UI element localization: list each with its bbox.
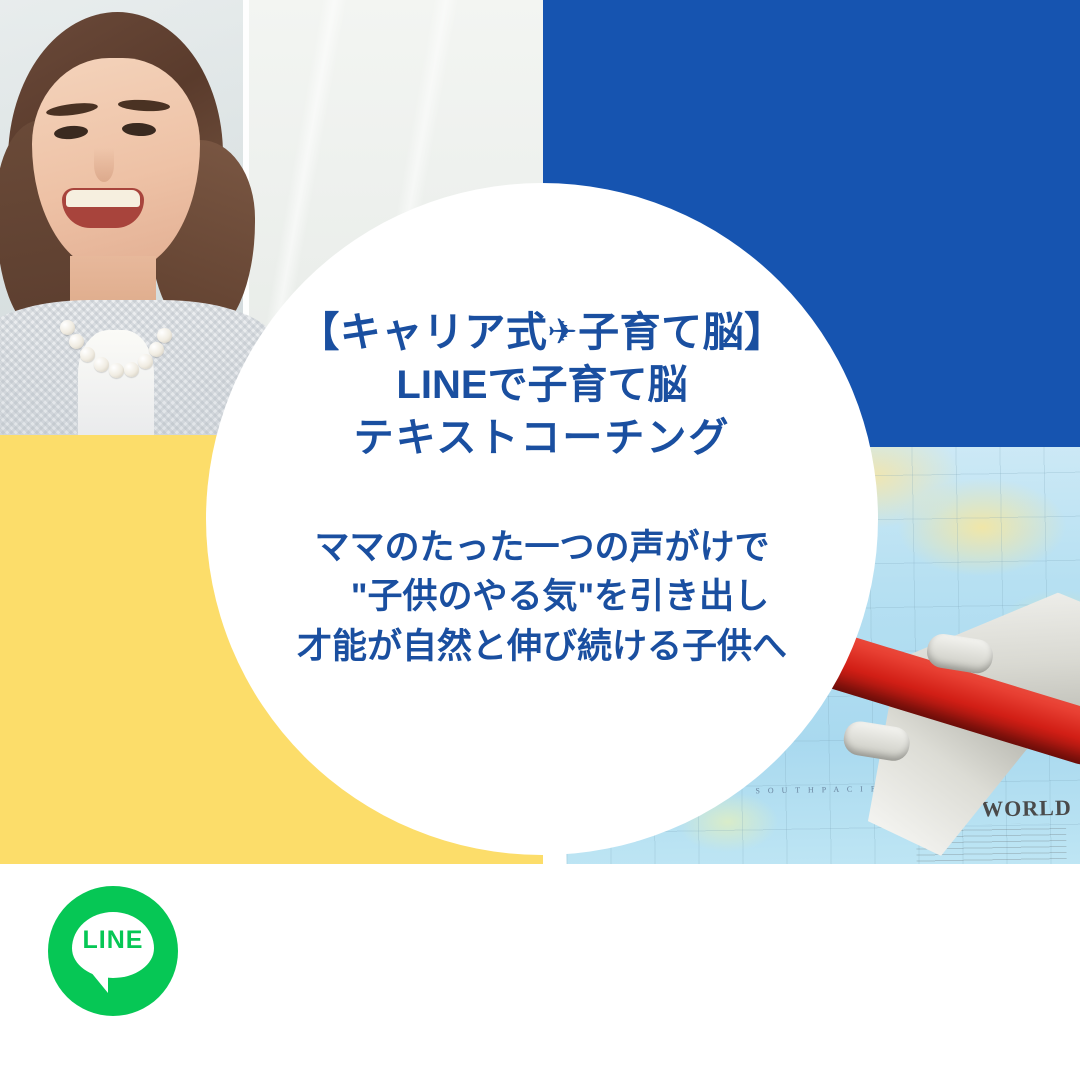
portrait-mouth (62, 188, 144, 228)
headline-line-1-suffix: 子育て脳】 (578, 309, 786, 355)
headline-line-1: 【キャリア式✈子育て脳】 (298, 305, 785, 359)
subcopy-line-1: ママのたった一つの声がけで (297, 523, 787, 573)
portrait-nose (94, 148, 114, 182)
subcopy-line-3: 才能が自然と伸び続ける子供へ (297, 622, 787, 672)
headline-line-1-prefix: 【キャリア式 (298, 309, 547, 355)
headline-block: 【キャリア式✈子育て脳】 LINEで子育て脳 テキストコーチング (298, 305, 785, 465)
portrait-teeth (66, 190, 140, 207)
subcopy-block: ママのたった一つの声がけで "子供のやる気"を引き出し 才能が自然と伸び続ける子… (297, 523, 787, 672)
airplane-icon: ✈ (547, 308, 578, 356)
footer-bar: LINE 佐藤有紀@gkc5726q 公式LINEご登録はこちらから (0, 864, 1080, 1080)
promo-banner: A R C T I C O C E A N N O R T H P A C I … (0, 0, 1080, 1080)
headline-circle: 【キャリア式✈子育て脳】 LINEで子育て脳 テキストコーチング ママのたった一… (206, 183, 878, 855)
headline-line-2: LINEで子育て脳 (298, 359, 785, 412)
line-logo-label: LINE (72, 926, 154, 955)
line-logo-icon[interactable]: LINE (48, 886, 178, 1016)
portrait-pearl-necklace (58, 318, 170, 392)
subcopy-line-2: "子供のやる気"を引き出し (297, 572, 787, 622)
headline-line-3: テキストコーチング (298, 412, 785, 465)
